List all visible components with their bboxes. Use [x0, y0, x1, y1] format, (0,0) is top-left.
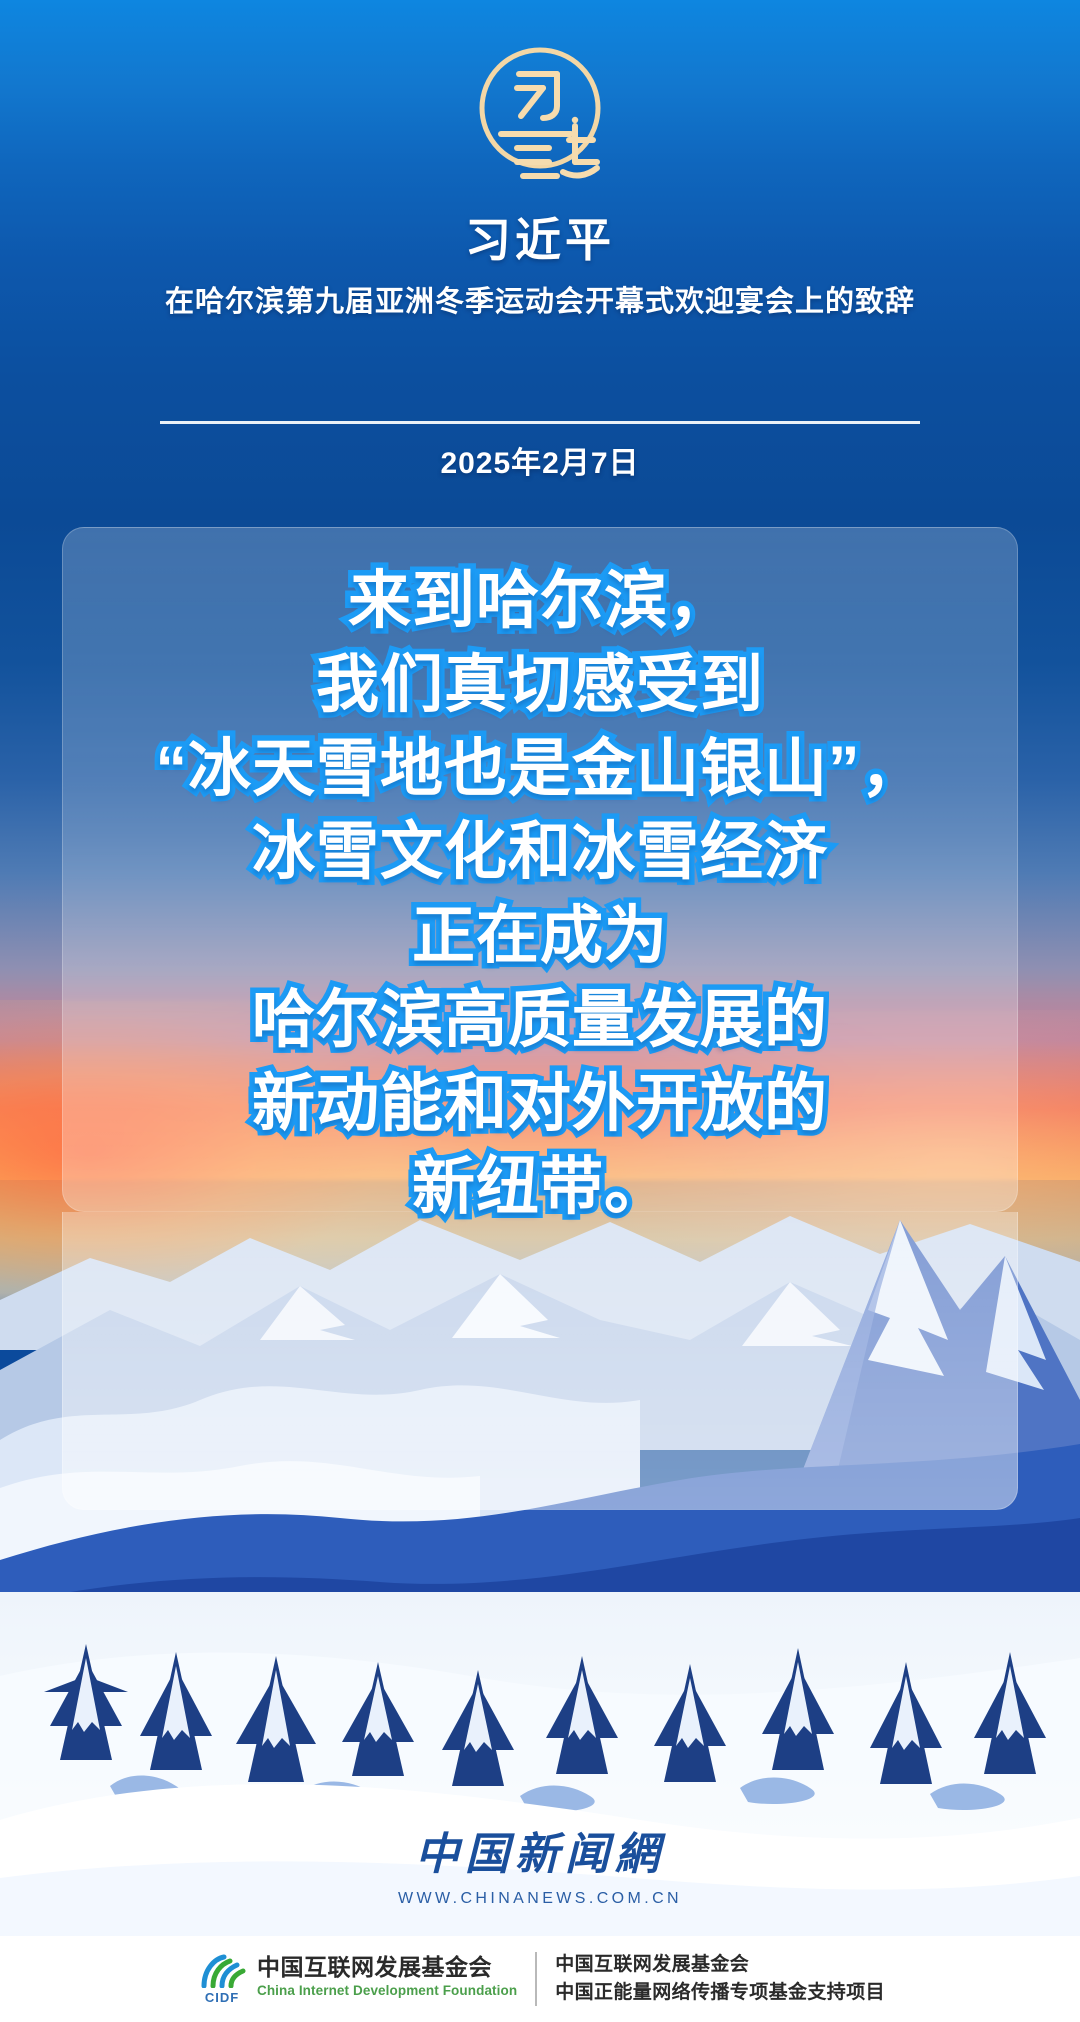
cidf-logo-block: CIDF 中国互联网发展基金会 China Internet Developme… [195, 1954, 517, 2005]
xi-yan-dao-seal-icon [445, 36, 635, 196]
quote-line: 正在成为 [62, 895, 1018, 979]
speech-date: 2025年2月7日 [0, 438, 1080, 482]
chinanews-brand: 中国新闻網 WWW.CHINANEWS.COM.CN [240, 1818, 840, 1908]
quote-line: 新动能和对外开放的 [62, 1063, 1018, 1147]
quote-block: 来到哈尔滨， 我们真切感受到 “冰天雪地也是金山银山”， 冰雪文化和冰雪经济 正… [62, 560, 1018, 1230]
cidf-arcs-logo-icon [195, 1954, 249, 1988]
quote-line: 来到哈尔滨， [62, 560, 1018, 644]
support-line-2: 中国正能量网络传播专项基金支持项目 [555, 1979, 885, 2007]
header-divider [160, 421, 920, 424]
quote-line: “冰天雪地也是金山银山”， [62, 728, 1018, 812]
cidf-name-en: China Internet Development Foundation [257, 1983, 517, 1999]
occasion-subtitle: 在哈尔滨第九届亚洲冬季运动会开幕式欢迎宴会上的致辞 [0, 284, 1080, 322]
cidf-name-cn: 中国互联网发展基金会 [257, 1954, 517, 1980]
quote-line: 冰雪文化和冰雪经济 [62, 811, 1018, 895]
quote-line: 我们真切感受到 [62, 644, 1018, 728]
footer-divider [535, 1952, 537, 2006]
quote-line: 哈尔滨高质量发展的 [62, 979, 1018, 1063]
chinanews-name: 中国新闻網 [240, 1818, 840, 1882]
poster-canvas: 习近平 在哈尔滨第九届亚洲冬季运动会开幕式欢迎宴会上的致辞 2025年2月7日 … [0, 0, 1080, 2022]
speaker-name: 习近平 [0, 212, 1080, 270]
chinanews-url: WWW.CHINANEWS.COM.CN [240, 1890, 840, 1908]
footer-bar: CIDF 中国互联网发展基金会 China Internet Developme… [0, 1936, 1080, 2022]
support-line-1: 中国互联网发展基金会 [555, 1951, 885, 1979]
cidf-abbreviation: CIDF [195, 1990, 249, 2005]
poster-header: 习近平 在哈尔滨第九届亚洲冬季运动会开幕式欢迎宴会上的致辞 [0, 212, 1080, 321]
quote-line: 新纽带。 [62, 1146, 1018, 1230]
quote-card-lower [62, 1212, 1018, 1510]
